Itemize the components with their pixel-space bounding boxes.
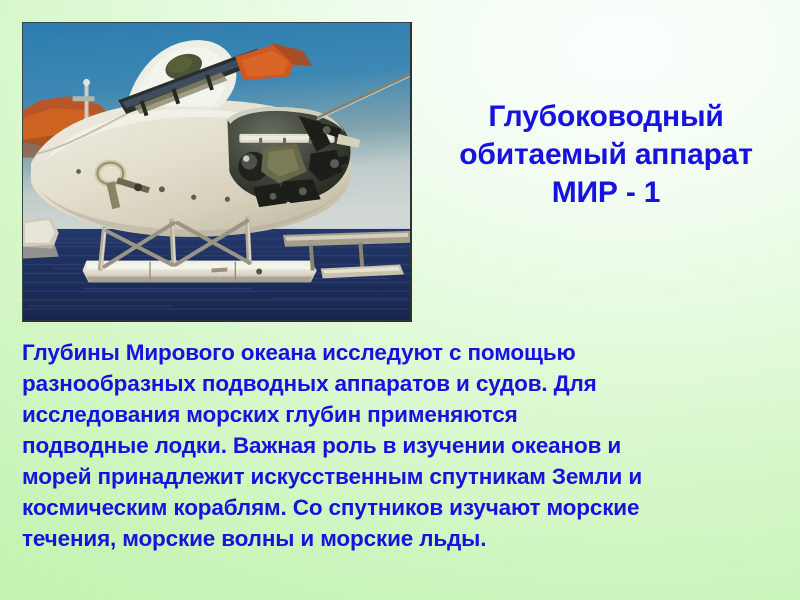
body-line-6: космическим кораблям. Со спутников изуча…	[22, 492, 784, 523]
title-line-3: МИР - 1	[420, 174, 792, 212]
body-line-3: исследования морских глубин применяются	[22, 399, 784, 430]
submersible-photo-frame	[22, 22, 412, 322]
body-line-1: Глубины Мирового океана исследуют с помо…	[22, 337, 784, 368]
body-line-7: течения, морские волны и морские льды.	[22, 523, 784, 554]
title-line-1: Глубоководный	[420, 98, 792, 136]
body-line-4: подводные лодки. Важная роль в изучении …	[22, 430, 784, 461]
body-line-2: разнообразных подводных аппаратов и судо…	[22, 368, 784, 399]
slide: Глубоководный обитаемый аппарат МИР - 1 …	[0, 0, 800, 600]
slide-body-text: Глубины Мирового океана исследуют с помо…	[22, 337, 784, 554]
slide-title: Глубоководный обитаемый аппарат МИР - 1	[420, 98, 792, 212]
title-line-2: обитаемый аппарат	[420, 136, 792, 174]
submersible-photo	[23, 23, 410, 320]
body-line-5: морей принадлежит искусственным спутника…	[22, 461, 784, 492]
